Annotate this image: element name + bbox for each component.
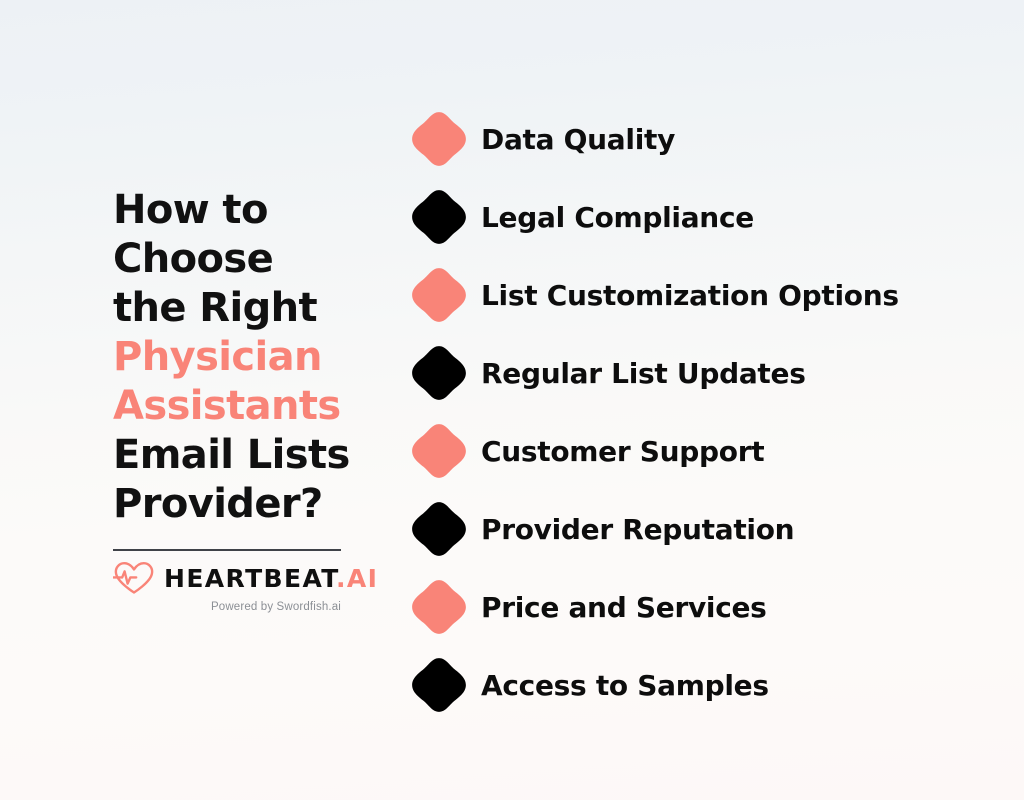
checklist-item[interactable]: Customer Support [411,412,1011,490]
blob-bullet-icon [411,189,467,245]
checklist-item[interactable]: Regular List Updates [411,334,1011,412]
headline-block: How to Choose the Right Physician Assist… [113,186,413,529]
blob-bullet-icon [411,657,467,713]
checklist-item-label: Legal Compliance [481,201,754,234]
title-line-5: Provider? [113,481,323,527]
infographic-canvas: How to Choose the Right Physician Assist… [0,0,1024,800]
checklist-item[interactable]: Provider Reputation [411,490,1011,568]
title-line-1: How to [113,187,268,233]
wordmark-main: HEARTBEAT [164,564,336,593]
divider [113,549,341,551]
page-title: How to Choose the Right Physician Assist… [113,186,413,529]
title-line-2: Choose [113,236,273,282]
checklist-item[interactable]: Access to Samples [411,646,1011,724]
checklist-item[interactable]: Price and Services [411,568,1011,646]
blob-bullet-icon [411,111,467,167]
blob-bullet-icon [411,267,467,323]
blob-bullet-icon [411,501,467,557]
wordmark-suffix: .AI [336,564,378,593]
title-accent-line-1: Physician [113,334,322,380]
logo-row: HEARTBEAT.AI [113,561,413,595]
checklist-item-label: Access to Samples [481,669,769,702]
checklist-item-label: Provider Reputation [481,513,794,546]
blob-bullet-icon [411,579,467,635]
checklist: Data QualityLegal ComplianceList Customi… [411,100,1011,724]
title-line-4: Email Lists [113,432,350,478]
checklist-item-label: Price and Services [481,591,767,624]
brand-tagline: Powered by Swordfish.ai [113,601,341,613]
title-line-3: the Right [113,285,317,331]
checklist-item[interactable]: Data Quality [411,100,1011,178]
blob-bullet-icon [411,345,467,401]
heartbeat-heart-icon [113,561,155,595]
checklist-item-label: List Customization Options [481,279,899,312]
checklist-item[interactable]: Legal Compliance [411,178,1011,256]
checklist-item[interactable]: List Customization Options [411,256,1011,334]
blob-bullet-icon [411,423,467,479]
brand-logo: HEARTBEAT.AI Powered by Swordfish.ai [113,561,413,613]
title-accent-line-2: Assistants [113,383,341,429]
checklist-item-label: Customer Support [481,435,764,468]
brand-wordmark: HEARTBEAT.AI [164,566,378,591]
checklist-item-label: Data Quality [481,123,675,156]
checklist-item-label: Regular List Updates [481,357,806,390]
